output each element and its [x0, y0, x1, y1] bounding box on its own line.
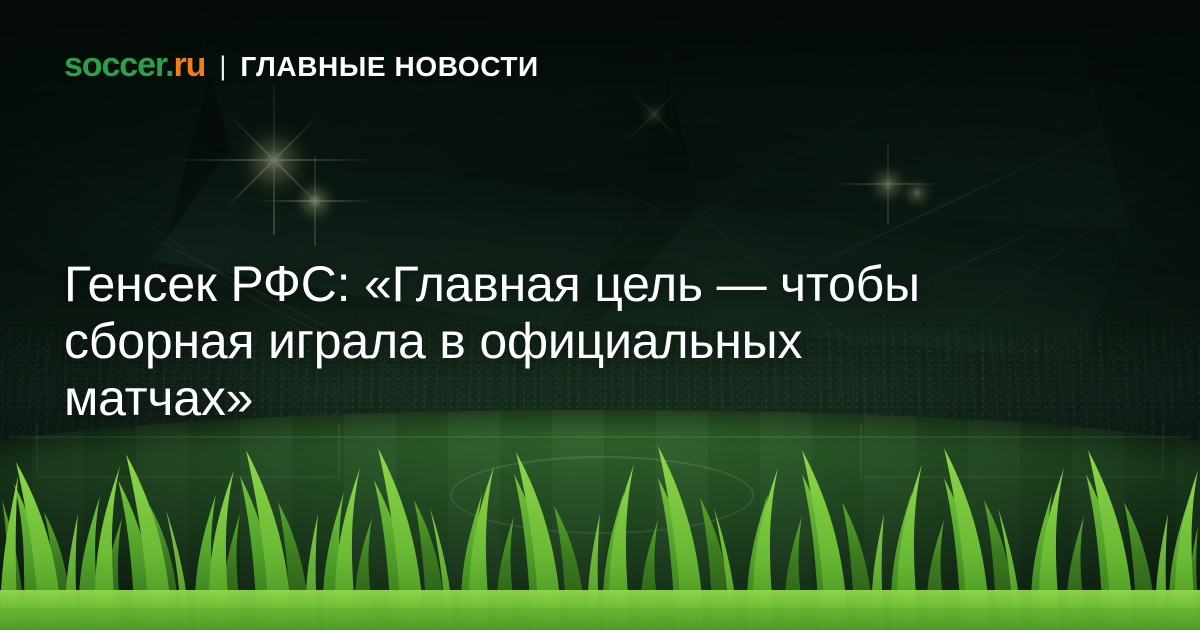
- logo-tld: ru: [174, 46, 206, 84]
- headline-line: Генсек РФС: «Главная цель — чтобы: [64, 256, 1144, 313]
- foreground-grass: [0, 440, 1200, 630]
- headline-line: сборная играла в официальных: [64, 313, 1144, 370]
- soccer-ru-logo[interactable]: soccer.ru: [64, 48, 205, 82]
- page-title: Генсек РФС: «Главная цель — чтобы сборна…: [64, 256, 1144, 427]
- news-share-card: soccer.ru | ГЛАВНЫЕ НОВОСТИ Генсек РФС: …: [0, 0, 1200, 630]
- header-kicker: ГЛАВНЫЕ НОВОСТИ: [240, 53, 538, 81]
- logo-word: soccer: [64, 46, 165, 84]
- header-separator: |: [219, 53, 226, 80]
- headline-line: матчах»: [64, 370, 1144, 427]
- card-header: soccer.ru | ГЛАВНЫЕ НОВОСТИ: [64, 48, 539, 82]
- logo-dot: .: [165, 46, 173, 84]
